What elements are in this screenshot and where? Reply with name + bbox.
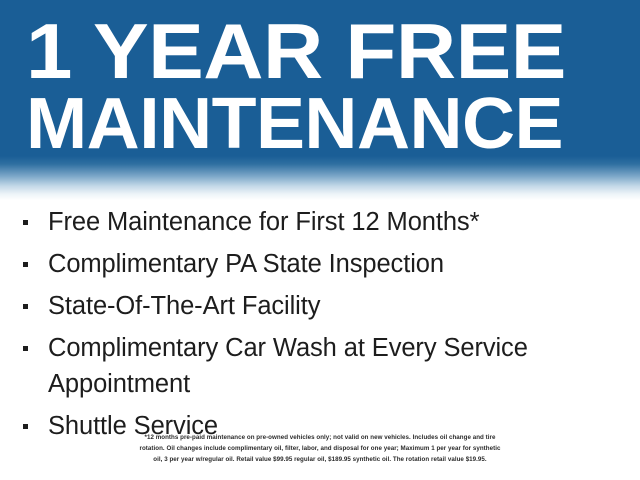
banner-headline-line-1: 1 YEAR FREE xyxy=(26,14,640,88)
fine-print-disclaimer: *12 months pre-paid maintenance on pre-o… xyxy=(26,432,614,465)
square-bullet-icon xyxy=(23,346,28,351)
square-bullet-icon xyxy=(23,262,28,267)
benefits-list: Free Maintenance for First 12 Months* Co… xyxy=(0,204,640,450)
list-item: Free Maintenance for First 12 Months* xyxy=(0,204,640,240)
fine-print-line-3: oil, 3 per year w/regular oil. Retail va… xyxy=(26,454,614,465)
banner-headline-line-2: MAINTENANCE xyxy=(26,90,634,158)
list-item: Complimentary PA State Inspection xyxy=(0,246,640,282)
square-bullet-icon xyxy=(23,424,28,429)
square-bullet-icon xyxy=(23,220,28,225)
benefit-label: Complimentary PA State Inspection xyxy=(48,246,640,282)
benefit-label: State-Of-The-Art Facility xyxy=(48,288,640,324)
fine-print-line-2: rotation. Oil changes include compliment… xyxy=(26,443,614,454)
benefit-label: Free Maintenance for First 12 Months* xyxy=(48,204,640,240)
fine-print-line-1: *12 months pre-paid maintenance on pre-o… xyxy=(26,432,614,443)
list-item: Complimentary Car Wash at Every Service … xyxy=(0,330,640,402)
benefit-label: Complimentary Car Wash at Every Service … xyxy=(48,330,640,402)
header-banner: 1 YEAR FREE MAINTENANCE xyxy=(0,0,640,200)
square-bullet-icon xyxy=(23,304,28,309)
banner-headline: 1 YEAR FREE MAINTENANCE xyxy=(26,14,622,158)
list-item: State-Of-The-Art Facility xyxy=(0,288,640,324)
promo-flyer: 1 YEAR FREE MAINTENANCE Free Maintenance… xyxy=(0,0,640,480)
